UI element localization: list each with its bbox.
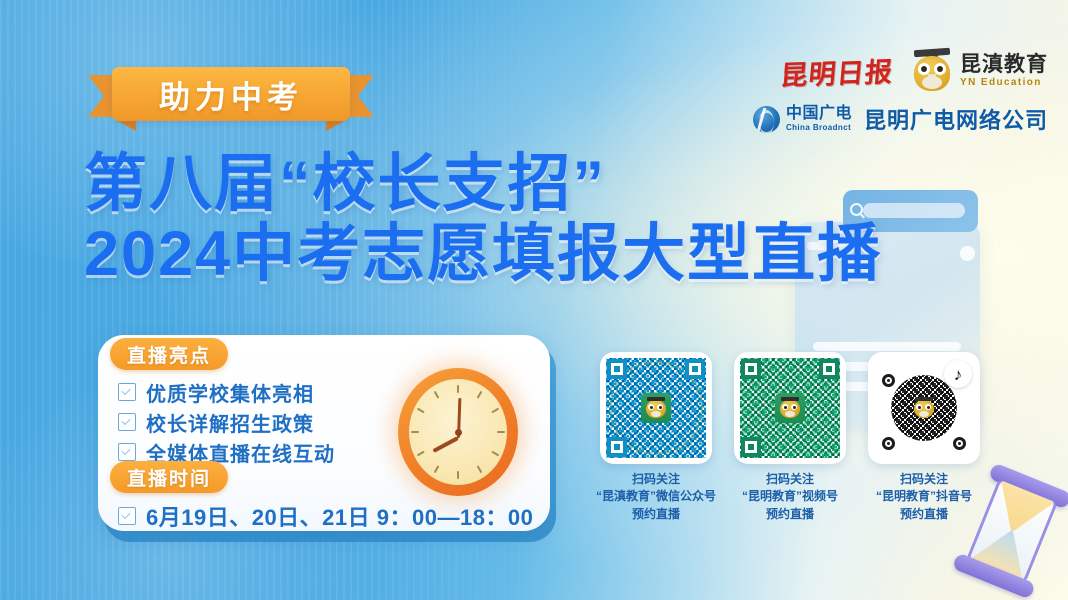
china-broadnet-label-en: China Broadnct [786,124,852,132]
qrcode-finder [882,374,895,387]
title-line-1: 第八届“校长支招” [84,152,944,216]
yn-education-label-en: YN Education [960,78,1048,89]
list-item: 优质学校集体亮相 [118,378,335,406]
owl-icon [779,397,801,419]
page-title: 第八届“校长支招” 2024中考志愿填报大型直播 [84,152,944,288]
list-item: 校长详解招生政策 [118,408,335,436]
qrcode-finder [685,359,705,379]
qrcode-finder [741,359,761,379]
qrcode-image-douyin[interactable]: ♪ [868,352,980,464]
poster-root: 助力中考 昆明日报 昆滇教育 YN Education [0,0,1068,600]
checkbox-icon [118,507,136,525]
qrcode-caption: 扫码关注 “昆明教育”视频号 预约直播 [742,471,838,523]
clock-hour-hand [432,436,459,453]
logo-row-primary: 昆明日报 昆滇教育 YN Education [718,44,1048,98]
qrcode-caption-line-3: 预约直播 [876,506,972,523]
owl-icon [645,397,667,419]
network-company-label: 昆明广电网络公司 [864,103,1048,135]
checkbox-icon [118,383,136,401]
kunming-daily-logo: 昆明日报 [779,50,895,93]
ribbon-body: 助力中考 [112,67,350,121]
time-pill: 直播时间 [110,461,228,493]
highlights-pill: 直播亮点 [110,338,228,370]
title-line-2: 2024中考志愿填报大型直播 [84,220,944,288]
qrcode-finder [607,359,627,379]
broadcast-time-row: 6月19日、20日、21日 9：00—18：00 [118,500,533,532]
qrcode-finder [741,437,761,457]
china-broadnet-text: 中国广电 China Broadnct [786,106,852,132]
checkbox-icon [118,413,136,431]
list-item-label: 校长详解招生政策 [146,408,314,437]
yn-education-logo: 昆滇教育 YN Education [911,49,1048,93]
checkbox-icon [118,443,136,461]
clock-face [409,379,507,485]
qrcode-finder [607,437,627,457]
qrcode-caption-line-1: 扫码关注 [596,471,716,488]
highlights-list: 优质学校集体亮相 校长详解招生政策 全媒体直播在线互动 [118,378,335,468]
owl-icon [911,49,953,93]
douyin-music-note-icon: ♪ [944,360,972,388]
broadcast-time-value: 6月19日、20日、21日 9：00—18：00 [146,500,533,532]
logo-row-secondary: 中国广电 China Broadnct 昆明广电网络公司 [718,102,1048,136]
qrcode-image-channels[interactable] [734,352,846,464]
qrcode-finder [882,437,895,450]
list-item-label: 优质学校集体亮相 [146,378,314,407]
qrcode-wechat-official[interactable]: 扫码关注 “昆滇教育”微信公众号 预约直播 [600,352,712,523]
qrcode-caption: 扫码关注 “昆滇教育”微信公众号 预约直播 [596,471,716,523]
qrcode-caption-line-3: 预约直播 [742,506,838,523]
qrcode-douyin[interactable]: ♪ 扫码关注 “昆明教育”抖音号 预约直播 [868,352,980,523]
qrcode-center-logo [641,393,671,423]
china-broadnet-logo: 中国广电 China Broadnct [753,106,852,133]
logo-group: 昆明日报 昆滇教育 YN Education [718,44,1048,136]
time-pill-label: 直播时间 [127,464,211,491]
qrcode-caption-line-1: 扫码关注 [876,471,972,488]
qrcode-caption: 扫码关注 “昆明教育”抖音号 预约直播 [876,471,972,523]
highlights-pill-label: 直播亮点 [127,341,211,368]
clock-center-pin [455,429,462,436]
yn-education-text: 昆滇教育 YN Education [960,54,1048,89]
ribbon-banner: 助力中考 [88,67,374,125]
qrcode-wechat-channels[interactable]: 扫码关注 “昆明教育”视频号 预约直播 [734,352,846,523]
qrcode-center-logo [907,391,941,425]
china-broadnet-label-cn: 中国广电 [786,106,852,123]
qrcode-center-logo [775,393,805,423]
qrcode-finder [953,437,966,450]
qrcode-group: 扫码关注 “昆滇教育”微信公众号 预约直播 扫码关注 [600,352,1000,523]
owl-icon [913,397,935,419]
globe-icon [753,106,780,133]
qrcode-finder [819,359,839,379]
qrcode-caption-line-2: “昆明教育”抖音号 [876,488,972,505]
qrcode-image-wechat[interactable] [600,352,712,464]
ribbon-label: 助力中考 [159,72,303,117]
qrcode-caption-line-3: 预约直播 [596,506,716,523]
document-line [813,342,961,351]
owl-belly [922,76,942,89]
document-dot [960,246,975,261]
qrcode-caption-line-1: 扫码关注 [742,471,838,488]
qrcode-caption-line-2: “昆滇教育”微信公众号 [596,488,716,505]
clock-illustration [398,368,518,496]
qrcode-caption-line-2: “昆明教育”视频号 [742,488,838,505]
yn-education-label-cn: 昆滇教育 [960,54,1048,76]
